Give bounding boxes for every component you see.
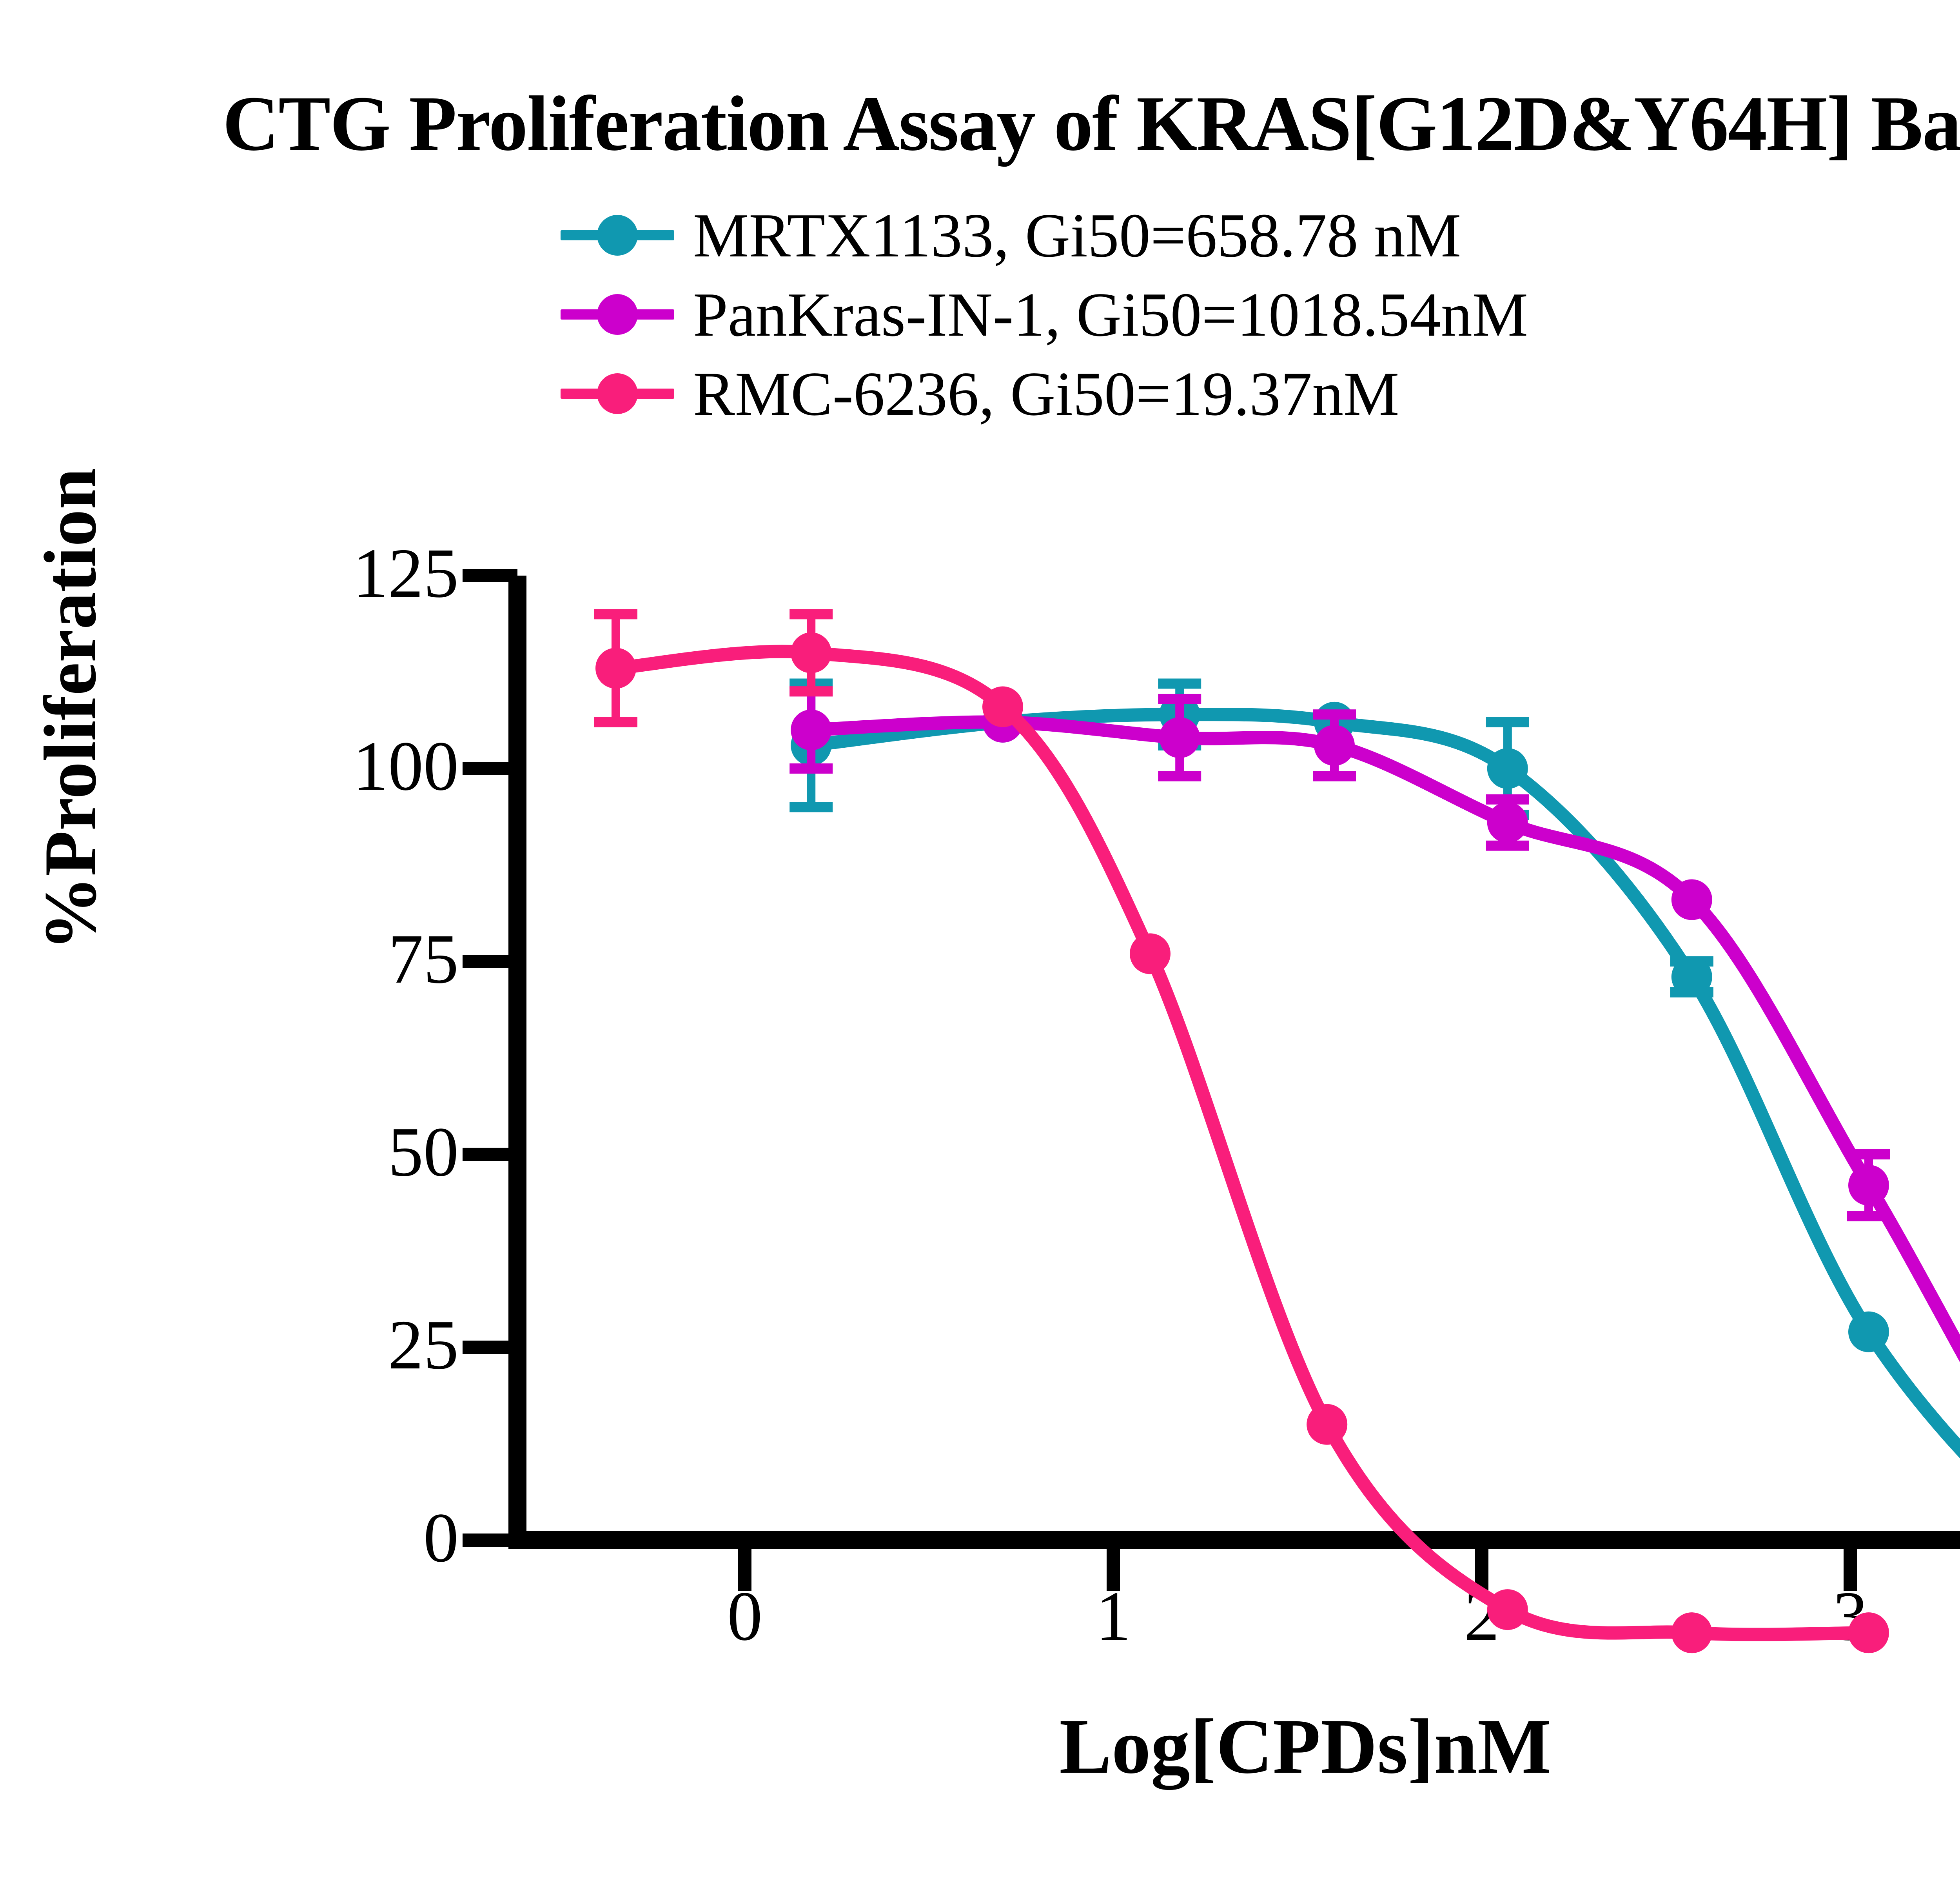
data-point xyxy=(1159,717,1200,758)
series-layer xyxy=(594,614,1960,1692)
data-point xyxy=(1848,1612,1889,1653)
data-point xyxy=(1848,1165,1889,1206)
axes-layer xyxy=(463,576,1960,1591)
data-point xyxy=(982,687,1023,727)
series-line xyxy=(616,651,1869,1634)
data-point xyxy=(1307,1404,1347,1445)
data-point xyxy=(1487,1589,1528,1630)
data-point xyxy=(1487,748,1528,789)
data-point xyxy=(1848,1312,1889,1352)
plot-area xyxy=(0,0,1960,1886)
data-point xyxy=(1671,1612,1712,1653)
series-rmc-6236 xyxy=(594,614,1889,1653)
data-point xyxy=(791,632,831,673)
chart-root: CTG Proliferation Assay of KRAS[G12D&Y64… xyxy=(0,0,1960,1886)
data-point xyxy=(1487,802,1528,843)
series-mrtx1133 xyxy=(789,684,1960,1669)
data-point xyxy=(595,648,636,689)
data-point xyxy=(1671,956,1712,997)
series-line xyxy=(811,722,1960,1672)
data-point xyxy=(1671,879,1712,920)
data-point xyxy=(1314,725,1355,766)
data-point xyxy=(1130,933,1171,974)
data-point xyxy=(791,710,831,750)
